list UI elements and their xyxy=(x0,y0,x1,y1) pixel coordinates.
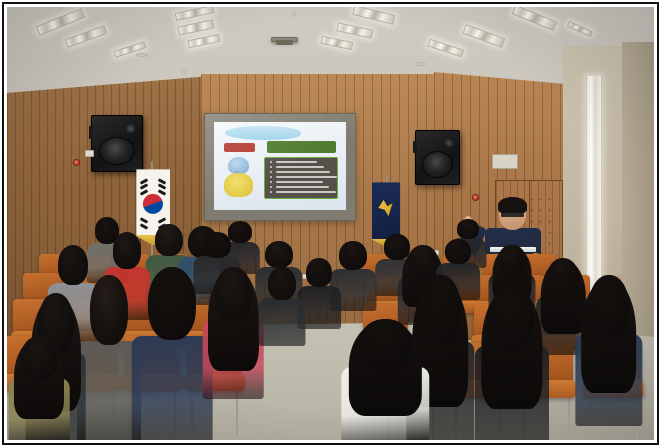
slide-bullet-text-line xyxy=(276,171,331,173)
chair-leg xyxy=(568,396,570,440)
audience-member-head xyxy=(148,267,196,340)
audience-member-head xyxy=(589,275,629,337)
slide-bullet-marker xyxy=(270,191,272,193)
audience-member-head xyxy=(215,267,251,322)
speaker-tweeter xyxy=(126,124,135,133)
audience-member-torso xyxy=(258,298,305,346)
audience-member-head xyxy=(498,245,526,274)
slide-cloud-graphic xyxy=(225,126,302,140)
slide-bullet-marker xyxy=(270,161,272,163)
audience-member-head xyxy=(113,232,141,268)
slide-bullet-panel xyxy=(264,157,338,199)
speaker-tweeter xyxy=(445,139,453,147)
audience-member xyxy=(133,267,211,440)
audience-member-head xyxy=(547,258,579,298)
flag-emblem xyxy=(377,199,395,219)
slide-green-header-box xyxy=(267,141,336,153)
exit-indicator xyxy=(492,154,518,169)
slide-bullet-text-line xyxy=(276,176,337,178)
audience-member-head xyxy=(359,319,411,370)
wall-panel xyxy=(85,150,94,157)
audience-member xyxy=(10,336,68,440)
trigram xyxy=(140,189,149,195)
auditorium-photograph xyxy=(7,7,654,440)
ceiling-sensor xyxy=(292,12,296,16)
audience-member xyxy=(259,267,304,345)
audience-member xyxy=(78,275,139,440)
ceiling-projector xyxy=(271,37,298,42)
right-wall-loudspeaker xyxy=(415,130,460,184)
ceiling-sensor xyxy=(182,70,186,74)
projection-screen-surface xyxy=(214,122,346,210)
audience-member-head xyxy=(306,258,332,287)
audience-member-head xyxy=(265,241,293,268)
audience-member-head xyxy=(457,219,479,239)
audience-member xyxy=(476,284,547,440)
slide-bullet-marker xyxy=(270,176,272,178)
projection-screen xyxy=(204,113,356,221)
slide-bullet-marker xyxy=(270,186,272,188)
trigram xyxy=(158,189,167,195)
audience-member-head xyxy=(445,239,471,264)
audience-member-head xyxy=(203,232,231,257)
speaker-woofer xyxy=(99,137,135,165)
slide-bullet-text-line xyxy=(276,181,323,183)
audience-member-head xyxy=(21,336,57,380)
audience-member-torso xyxy=(132,336,213,440)
taeguk-symbol xyxy=(143,194,163,214)
speaker-bracket xyxy=(89,126,93,139)
ceiling-vent xyxy=(136,53,148,57)
audience-member xyxy=(343,319,427,440)
presenter-hair xyxy=(498,197,527,213)
audience-member-head xyxy=(339,241,367,270)
slide-bullet-text-line xyxy=(276,166,324,168)
speaker-woofer xyxy=(422,151,453,178)
left-wall-loudspeaker xyxy=(91,115,143,171)
frame-border xyxy=(2,2,659,445)
speaker-bracket xyxy=(413,141,417,154)
slide-bullet-marker xyxy=(270,171,272,173)
slide-flame-character xyxy=(224,173,253,198)
presenter-eyeglasses xyxy=(501,213,524,218)
audience-member-head xyxy=(268,267,296,300)
slide-bullet-text-line xyxy=(276,161,318,163)
audience-member-head xyxy=(490,284,534,349)
audience-member-head xyxy=(408,245,438,278)
slide-bullet-marker xyxy=(270,166,272,168)
slide-bullet-text-line xyxy=(276,186,330,188)
slide-bullet-text-line xyxy=(276,191,336,193)
audience-member xyxy=(576,275,641,422)
audience-member-head xyxy=(90,275,128,344)
slide-red-title-box xyxy=(224,143,256,153)
photo-frame xyxy=(0,0,661,447)
slide-bullet-marker xyxy=(270,181,272,183)
audience-member xyxy=(204,267,262,397)
